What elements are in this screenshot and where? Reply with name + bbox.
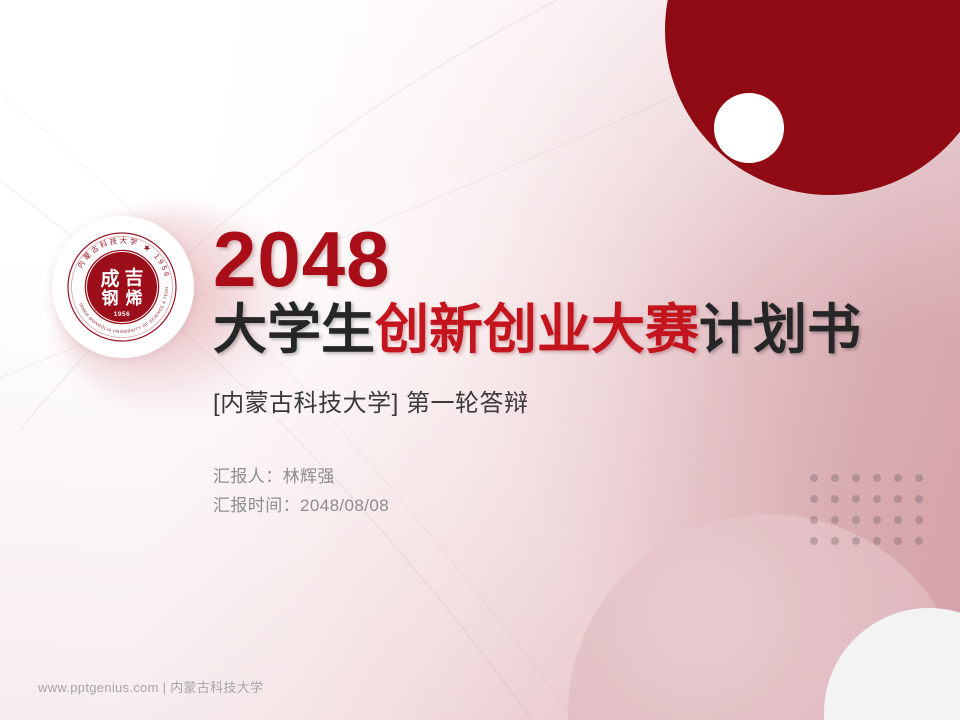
main-title: 大学生创新创业大赛计划书 bbox=[213, 300, 913, 360]
title-segment-1: 大学生 bbox=[213, 300, 375, 360]
title-segment-3: 计划书 bbox=[699, 300, 861, 360]
svg-text:成: 成 bbox=[100, 267, 119, 290]
svg-text:1956: 1956 bbox=[114, 311, 131, 318]
title-segment-2: 创新创业大赛 bbox=[375, 300, 699, 360]
presentation-meta: 汇报人：林辉强 汇报时间：2048/08/08 bbox=[213, 462, 913, 520]
university-seal-icon: 内蒙古科技大学 ★ 1956 ★ INNER MONGOLIA UNIVERSI… bbox=[63, 228, 181, 346]
date-line: 汇报时间：2048/08/08 bbox=[213, 491, 913, 520]
title-block: 2048 大学生创新创业大赛计划书 [内蒙古科技大学] 第一轮答辩 汇报人：林辉… bbox=[213, 222, 913, 520]
svg-text:钢: 钢 bbox=[102, 288, 119, 308]
decorative-white-dot bbox=[714, 93, 784, 163]
presentation-slide: 内蒙古科技大学 ★ 1956 ★ INNER MONGOLIA UNIVERSI… bbox=[0, 0, 960, 720]
slide-footer: www.pptgenius.com | 内蒙古科技大学 bbox=[38, 677, 263, 696]
subtitle: [内蒙古科技大学] 第一轮答辩 bbox=[213, 383, 913, 418]
year-heading: 2048 bbox=[213, 222, 913, 296]
svg-text:烯: 烯 bbox=[126, 288, 143, 308]
svg-text:吉: 吉 bbox=[124, 266, 143, 289]
presenter-line: 汇报人：林辉强 bbox=[213, 462, 913, 491]
